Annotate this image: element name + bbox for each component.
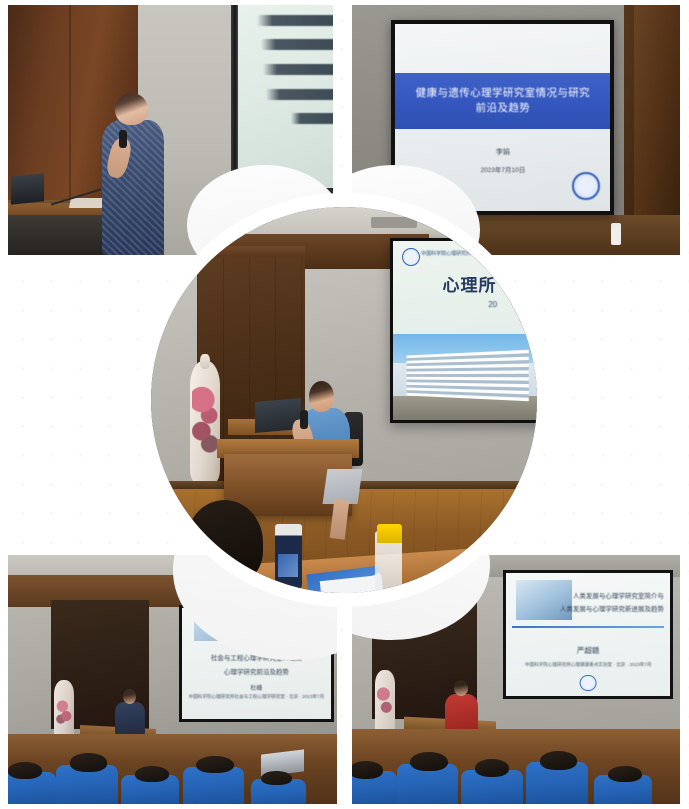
institute-logo-icon (402, 248, 420, 266)
audience-head (196, 756, 234, 774)
title-slide: 中国科学院心理研究所 心理所 20 (393, 241, 551, 420)
audience-head (8, 762, 42, 779)
screen-frame: 中国科学院心理研究所 心理所 20 (390, 238, 551, 423)
speaker-head (309, 381, 334, 412)
dark-water-bottle (275, 524, 302, 590)
slide-text-line-2 (261, 39, 333, 50)
slide-text-line-3 (263, 64, 333, 75)
audience-head (410, 752, 448, 772)
slide-year: 20 (488, 300, 497, 309)
slide-title-line-1: 人类发展与心理学研究室简介与 (573, 590, 664, 600)
projection-screen (236, 5, 334, 188)
slide-presenter-name: 严超赣 (506, 645, 671, 656)
audience-head (540, 751, 578, 770)
yellow-bottle-cap (377, 524, 402, 543)
slide-title-line-2: 前沿及趋势 (476, 101, 531, 116)
slide-presenter-name: 杜峰 (182, 683, 331, 692)
slide-text-line-4 (266, 89, 333, 100)
photo-center-circle[interactable]: 中国科学院心理研究所 心理所 20 (137, 193, 551, 607)
slide-building-image (393, 334, 551, 420)
slide-subtitle: 中国科学院心理研究所社会与工程心理学研究室 · 北京 · 2023年7月 (182, 694, 331, 700)
audience-head (608, 766, 642, 782)
slide-title-line-2: 心理学研究前沿及趋势 (182, 666, 331, 676)
slide-title-band: 健康与遗传心理学研究室情况与研究 前沿及趋势 (395, 73, 610, 129)
audience-head-foreground (186, 500, 263, 585)
audience-head (135, 766, 169, 782)
slide-subtitle: 中国科学院心理研究所心理健康重点实验室 · 北京 · 2023年7月 (506, 662, 671, 668)
presenter-head (454, 680, 469, 696)
institute-logo-icon (580, 675, 597, 692)
ceiling-vent (371, 217, 417, 229)
audience-head (475, 759, 509, 777)
scene-center-circle: 中国科学院心理研究所 心理所 20 (151, 207, 537, 593)
slide-title-line-1: 健康与遗传心理学研究室情况与研究 (416, 86, 590, 101)
slide-divider (512, 626, 663, 628)
presenter-head (115, 93, 148, 126)
audience-head (352, 761, 383, 779)
handheld-microphone (300, 410, 308, 429)
institute-logo-right-icon (572, 172, 600, 200)
handheld-microphone (119, 130, 127, 148)
audience-seating (352, 719, 680, 804)
decorative-vase (190, 361, 221, 485)
slide-big-title: 心理所 (442, 271, 496, 296)
slide-text-line-1 (257, 15, 333, 26)
slide-presenter-name: 李娟 (395, 147, 610, 157)
audience-seating (8, 724, 337, 804)
water-bottle (611, 223, 621, 246)
laptop (11, 173, 44, 204)
audience-head (70, 753, 108, 772)
screen-edge (231, 5, 238, 195)
slide-brand-text: 中国科学院心理研究所 (421, 250, 471, 257)
speaker-shorts (322, 469, 362, 504)
photo-collage: 健康与遗传心理学研究室情况与研究 前沿及趋势 李娟 2023年7月10日 (0, 0, 689, 809)
slide-title-line-2: 人类发展与心理学研究新进展及趋势 (560, 603, 664, 613)
audience-head (261, 771, 292, 785)
slide-text-line-5 (291, 113, 333, 124)
